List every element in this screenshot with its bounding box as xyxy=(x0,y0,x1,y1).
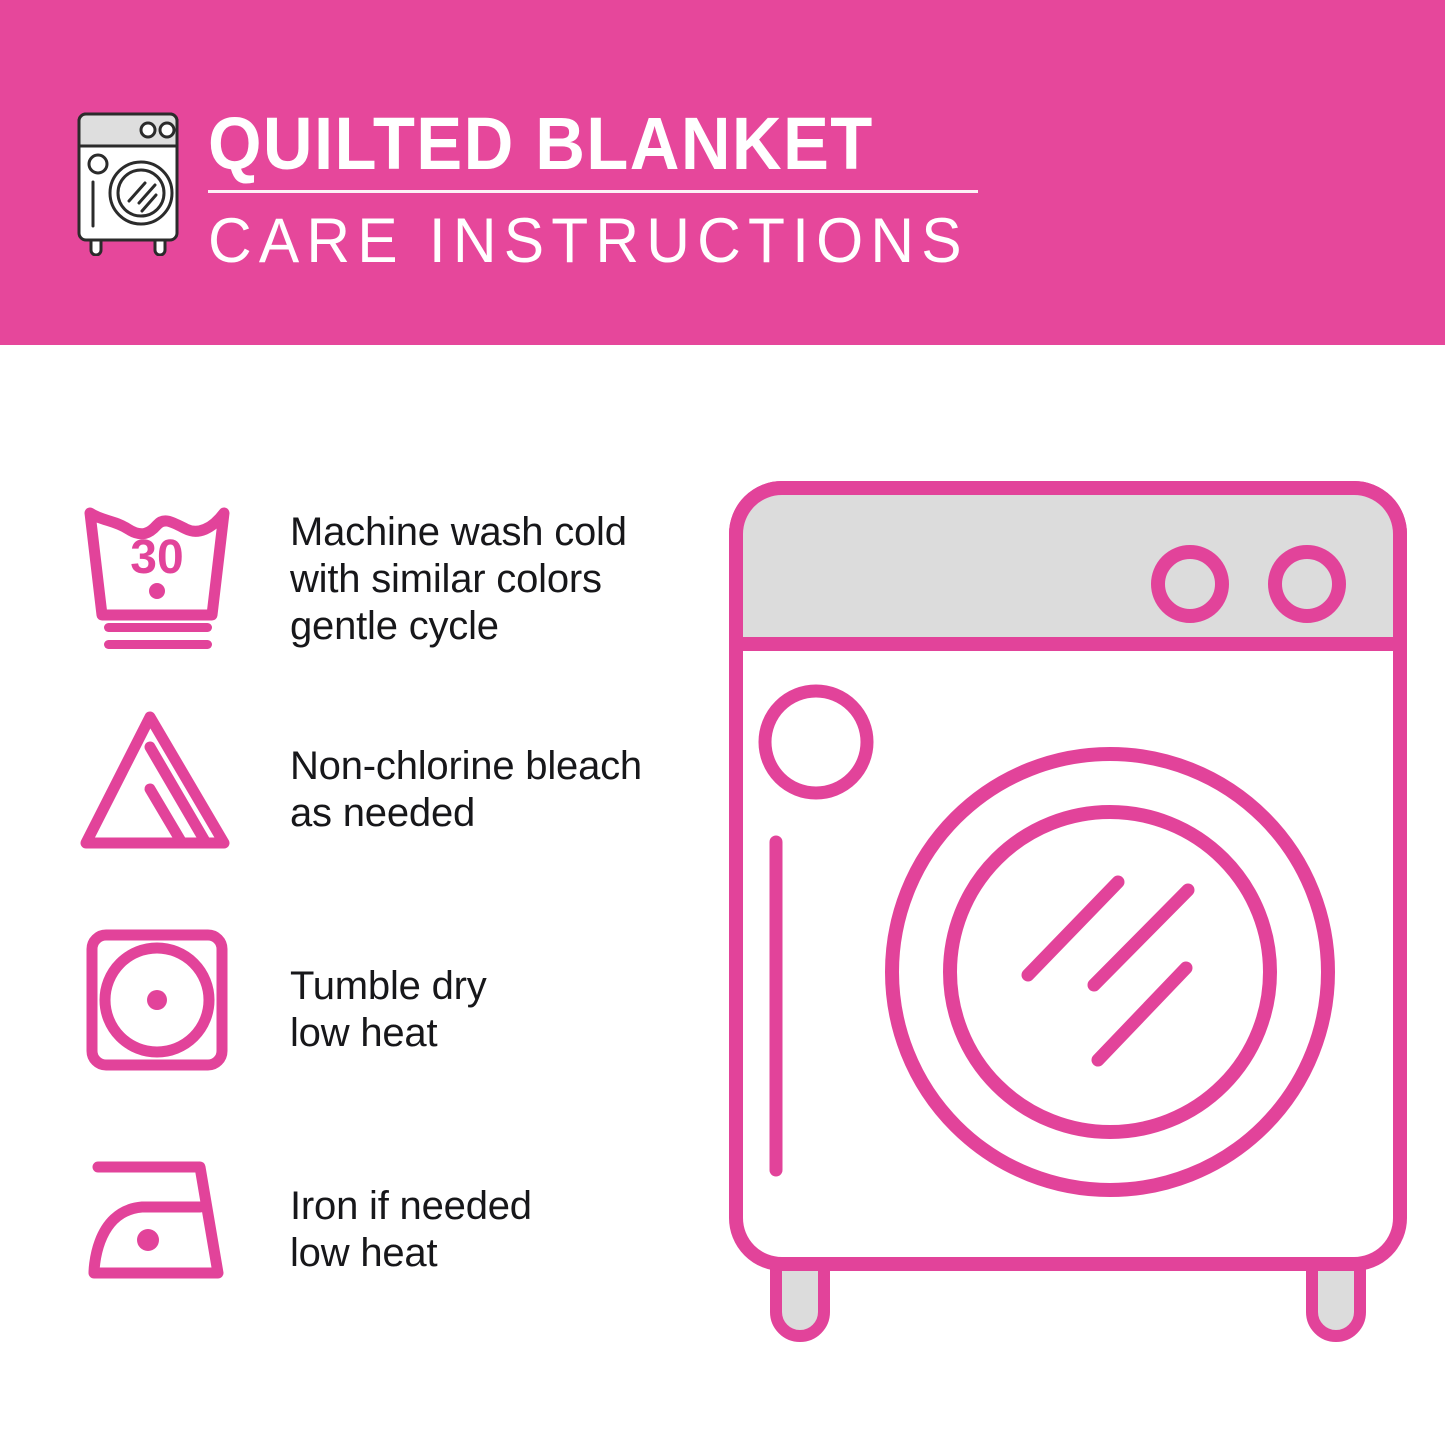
header-text-block: QUILTED BLANKET CARE INSTRUCTIONS xyxy=(208,104,1008,275)
care-instructions-poster: QUILTED BLANKET CARE INSTRUCTIONS 30 Mac… xyxy=(0,0,1445,1445)
washing-machine-illustration xyxy=(718,470,1418,1370)
tumble-dry-icon xyxy=(72,925,242,1085)
washing-machine-icon xyxy=(62,104,194,256)
page-title: QUILTED BLANKET xyxy=(208,104,952,184)
header-band: QUILTED BLANKET CARE INSTRUCTIONS xyxy=(0,0,1445,345)
instruction-label-iron: Iron if needed low heat xyxy=(290,1183,532,1277)
instruction-label-tumble-dry: Tumble dry low heat xyxy=(290,963,487,1057)
wash-temperature-label: 30 xyxy=(130,531,183,584)
instruction-label-bleach: Non-chlorine bleach as needed xyxy=(290,743,642,837)
title-divider xyxy=(208,190,978,193)
control-knob-right xyxy=(1275,552,1339,616)
bleach-triangle-icon xyxy=(72,705,242,865)
instruction-row-tumble-dry: Tumble dry low heat xyxy=(0,925,700,1105)
machine-legs xyxy=(776,1260,1360,1336)
iron-icon xyxy=(72,1145,242,1305)
instruction-row-wash: 30 Machine wash cold with similar colors… xyxy=(0,495,700,675)
detergent-dispenser-icon xyxy=(765,691,867,793)
instruction-row-iron: Iron if needed low heat xyxy=(0,1145,700,1325)
instruction-label-wash: Machine wash cold with similar colors ge… xyxy=(290,509,627,650)
instruction-row-bleach: Non-chlorine bleach as needed xyxy=(0,705,700,885)
wash-tub-icon: 30 xyxy=(72,495,242,655)
control-knob-left xyxy=(1158,552,1222,616)
page-subtitle: CARE INSTRUCTIONS xyxy=(208,207,976,275)
